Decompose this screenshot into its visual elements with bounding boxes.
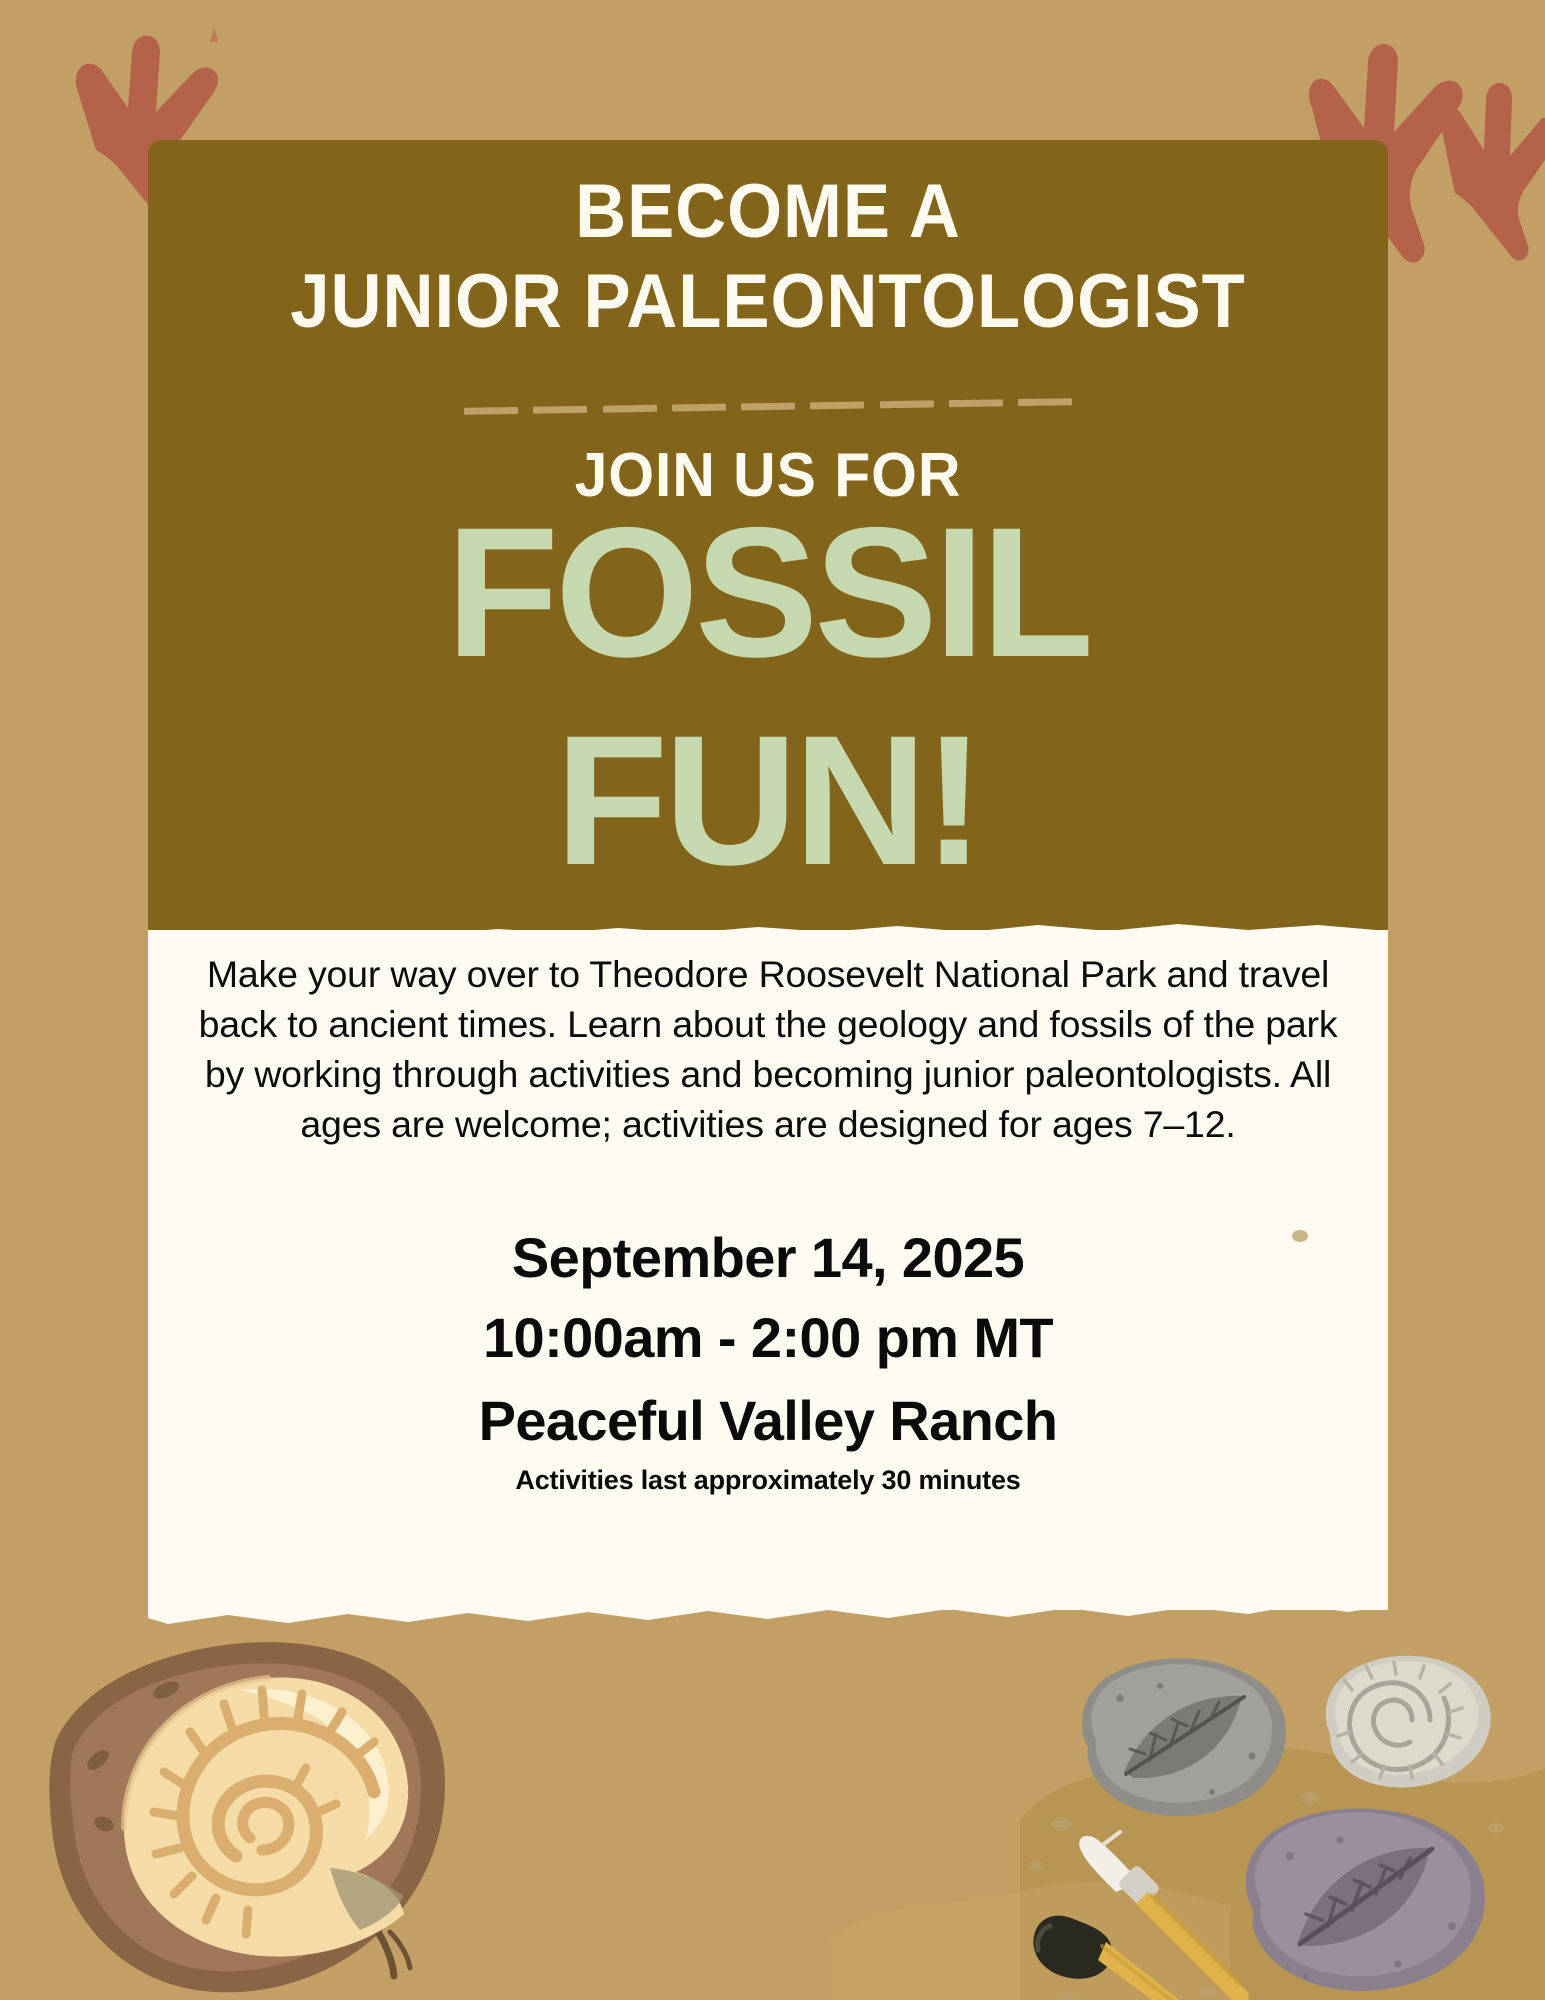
torn-edge-top xyxy=(148,916,1388,938)
event-time: 10:00am - 2:00 pm MT xyxy=(148,1305,1388,1370)
dirt-mound xyxy=(830,1882,1230,2000)
shell-fossil-rock-icon xyxy=(1326,1656,1491,1788)
event-location: Peaceful Valley Ranch xyxy=(148,1388,1388,1453)
dirt-mound xyxy=(1020,1747,1545,2000)
leaf-fossil-rock-icon xyxy=(1246,1808,1485,1991)
ammonite-fossil-icon xyxy=(49,1642,445,1992)
torn-edge-bottom xyxy=(148,1596,1388,1630)
dinosaur-footprint-icon xyxy=(1440,83,1545,261)
poster-title: BECOME A JUNIOR PALEONTOLOGIST xyxy=(148,174,1388,340)
event-note: Activities last approximately 30 minutes xyxy=(148,1465,1388,1496)
content-paper: Make your way over to Theodore Roosevelt… xyxy=(148,930,1388,1610)
big-word-fossil: FOSSIL xyxy=(148,512,1388,675)
paleontology-brush-icon xyxy=(1079,1832,1249,2000)
header-panel: BECOME A JUNIOR PALEONTOLOGIST JOIN US F… xyxy=(148,140,1388,940)
event-date: September 14, 2025 xyxy=(148,1225,1388,1290)
poster-canvas: BECOME A JUNIOR PALEONTOLOGIST JOIN US F… xyxy=(0,0,1545,2000)
title-line-1: BECOME A xyxy=(216,174,1321,250)
dashed-divider xyxy=(464,397,1072,415)
leaf-fossil-rock-icon xyxy=(1082,1658,1286,1816)
big-word-fun: FUN! xyxy=(148,720,1388,883)
body-paragraph: Make your way over to Theodore Roosevelt… xyxy=(178,950,1358,1150)
chisel-tool-icon xyxy=(1033,1916,1195,2000)
title-line-2: JUNIOR PALEONTOLOGIST xyxy=(216,264,1321,340)
